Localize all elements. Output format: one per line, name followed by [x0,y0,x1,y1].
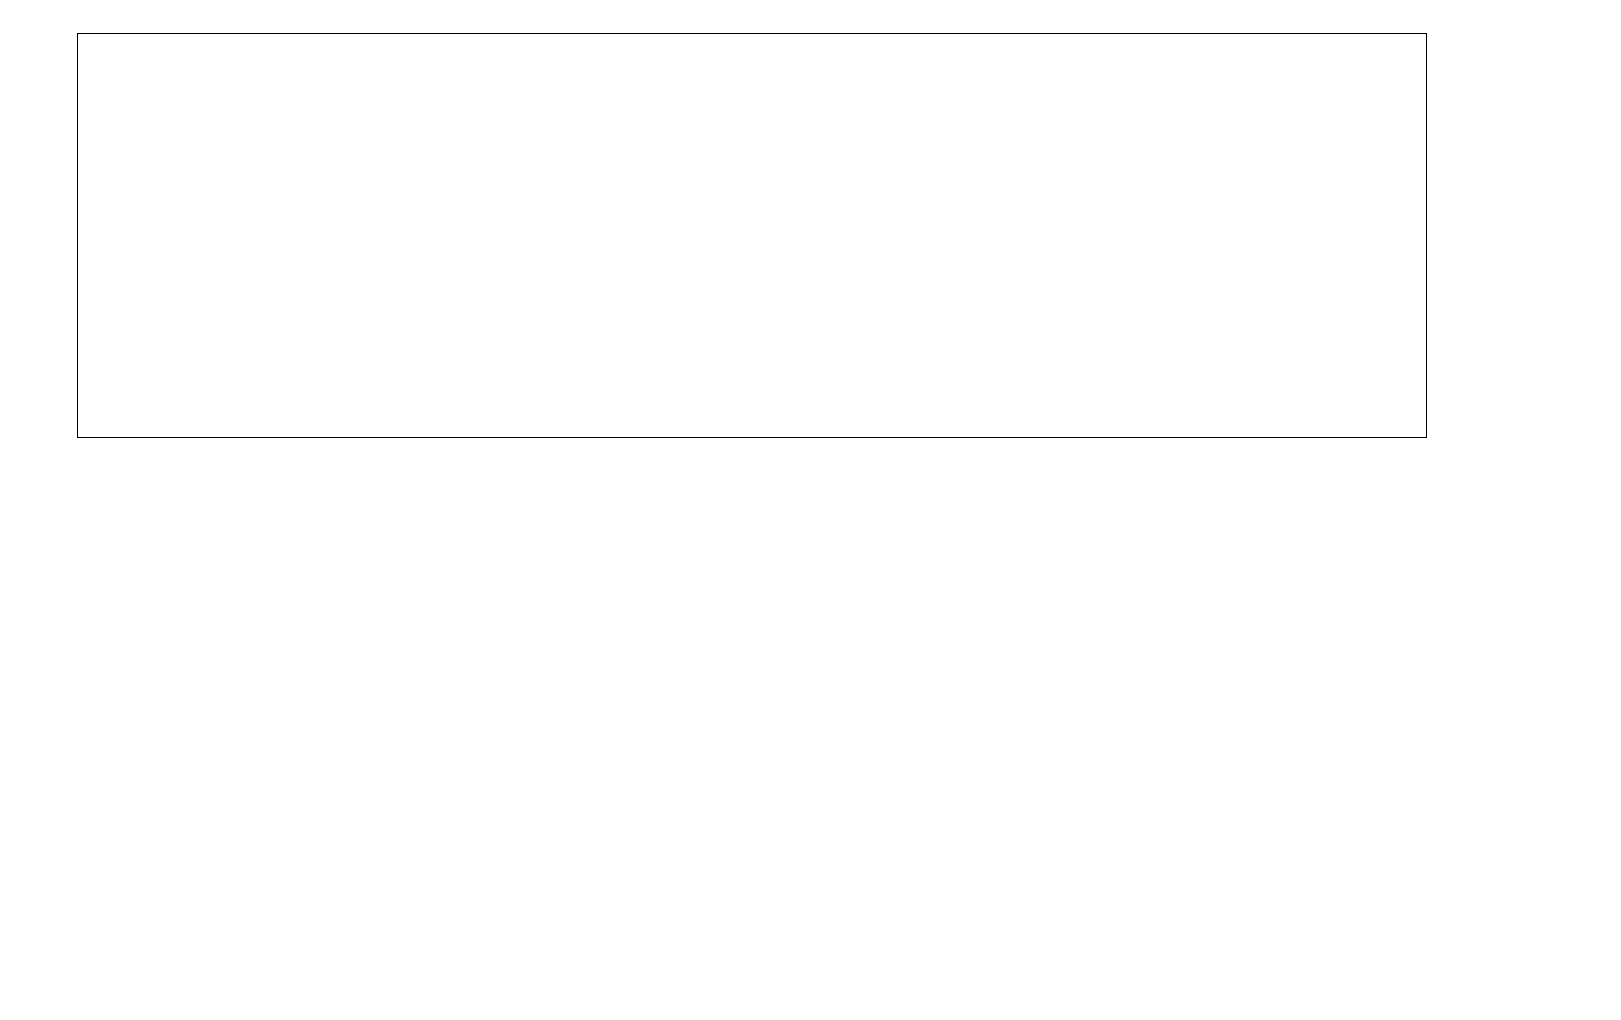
figure-canvas [0,0,1621,1020]
heatmap-raw [78,34,1426,437]
plot-frame-raw [77,33,1427,438]
